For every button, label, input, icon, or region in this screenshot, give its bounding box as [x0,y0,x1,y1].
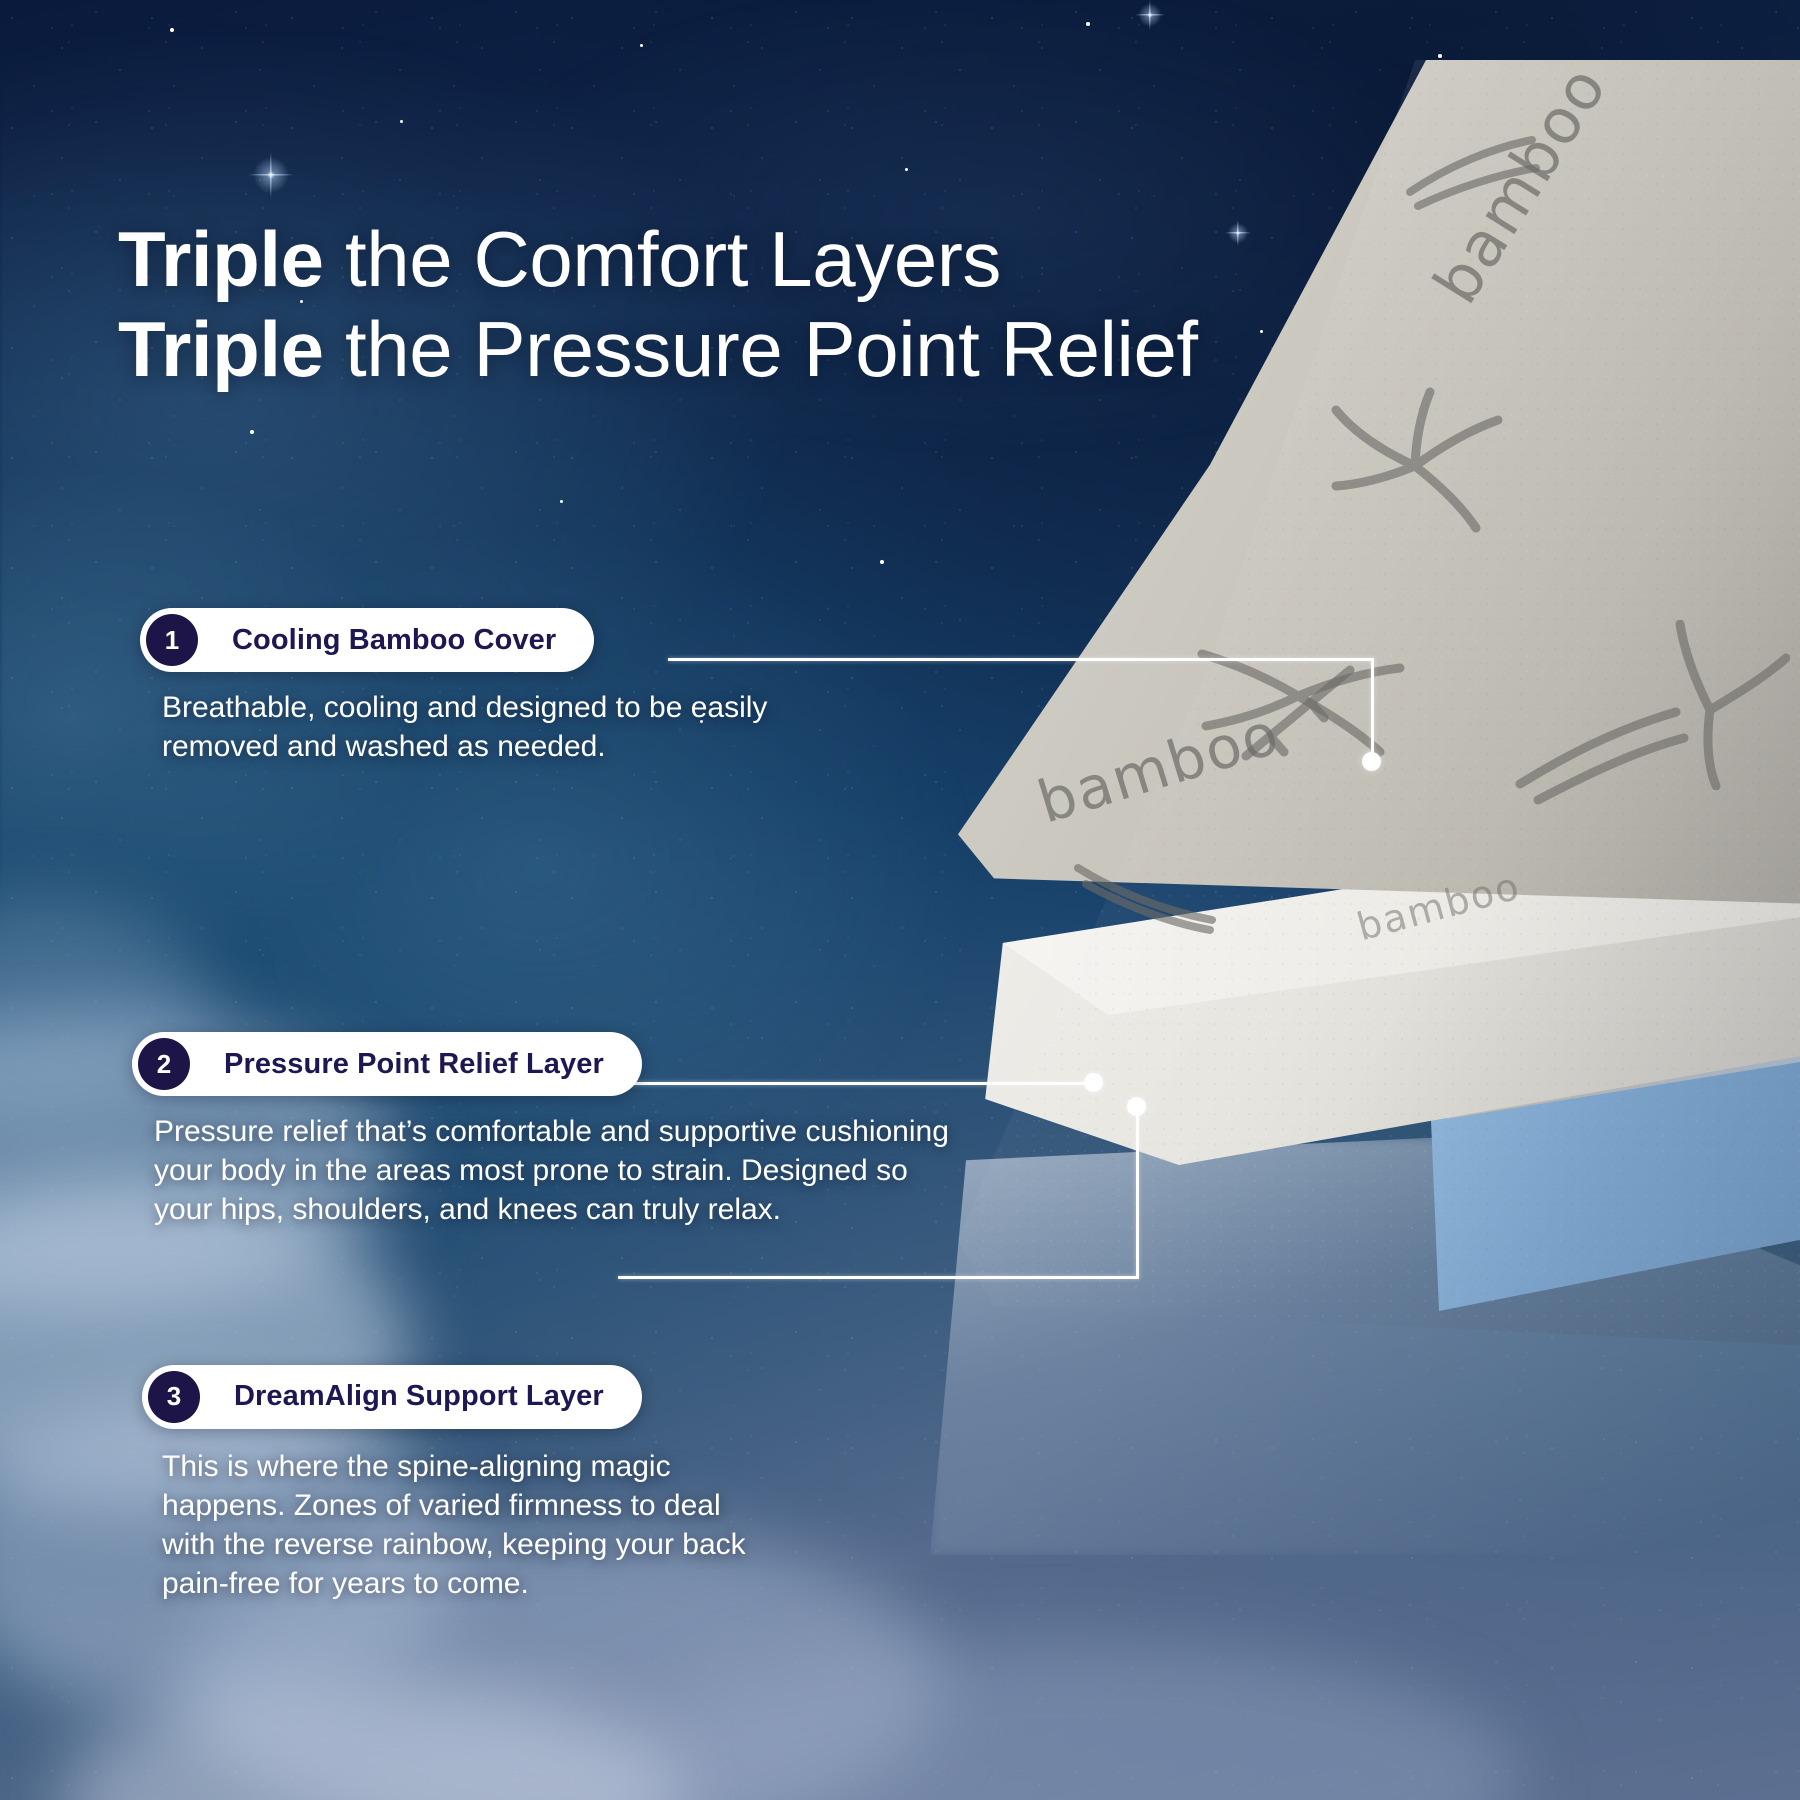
star [400,120,403,123]
headline-rest: the Comfort Layers [324,215,1001,303]
callout-2-description: Pressure relief that’s comfortable and s… [132,1112,1032,1229]
star [880,560,884,564]
desc-line: This is where the spine-aligning magic [162,1447,942,1486]
star [1438,54,1442,58]
star [1086,22,1090,26]
desc-line: your hips, shoulders, and knees can trul… [154,1190,1032,1229]
desc-line: happens. Zones of varied firmness to dea… [162,1486,942,1525]
bamboo-stalk-icon [1240,660,1360,770]
connector-endpoint-dot [1362,752,1381,771]
sparkle-star-icon [248,152,294,198]
sparkle-star-icon [1135,0,1165,30]
desc-line: Pressure relief that’s comfortable and s… [154,1112,1032,1151]
callout-1-number-badge: 1 [146,614,198,666]
headline-emphasis: Triple [118,215,324,303]
headline-line-2: Triple the Pressure Point Relief [118,304,1298,394]
headline-emphasis: Triple [118,305,324,393]
star [250,430,254,434]
desc-line: removed and washed as needed. [162,727,960,766]
bamboo-leaf-icon [1400,130,1540,220]
connector-endpoint-dot [1084,1073,1103,1092]
callout-1-pill[interactable]: 1 Cooling Bamboo Cover [140,608,594,672]
headline-line-1: Triple the Comfort Layers [118,214,1298,304]
callout-2: 2 Pressure Point Relief Layer Pressure r… [132,1032,1032,1229]
desc-line: Breathable, cooling and designed to be e… [162,688,960,727]
bamboo-leaf-icon [1640,620,1790,790]
callout-2-pill[interactable]: 2 Pressure Point Relief Layer [132,1032,642,1096]
star [170,28,174,32]
star [905,168,908,171]
callout-3-number-badge: 3 [148,1371,200,1423]
desc-line: your body in the areas most prone to str… [154,1151,1032,1190]
bamboo-leaf-icon [1070,850,1220,940]
star [640,44,643,47]
callout-3-title: DreamAlign Support Layer [200,1380,604,1413]
callout-2-title: Pressure Point Relief Layer [190,1048,604,1081]
headline-rest: the Pressure Point Relief [324,305,1198,393]
page-title: Triple the Comfort Layers Triple the Pre… [118,214,1298,395]
callout-3: 3 DreamAlign Support Layer This is where… [142,1392,942,1603]
infographic-canvas: bamboo bamboo bamboo [0,0,1800,1800]
callout-3-pill[interactable]: 3 DreamAlign Support Layer [142,1365,642,1429]
callout-1-title: Cooling Bamboo Cover [198,624,556,657]
desc-line: pain-free for years to come. [162,1564,942,1603]
desc-line: with the reverse rainbow, keeping your b… [162,1525,942,1564]
callout-3-description: This is where the spine-aligning magic h… [142,1447,942,1603]
bamboo-leaf-icon [1320,380,1510,540]
callout-1: 1 Cooling Bamboo Cover Breathable, cooli… [140,608,960,766]
callout-2-number-badge: 2 [138,1038,190,1090]
star [560,500,563,503]
callout-1-description: Breathable, cooling and designed to be e… [140,688,960,766]
connector-endpoint-dot [1127,1097,1146,1116]
